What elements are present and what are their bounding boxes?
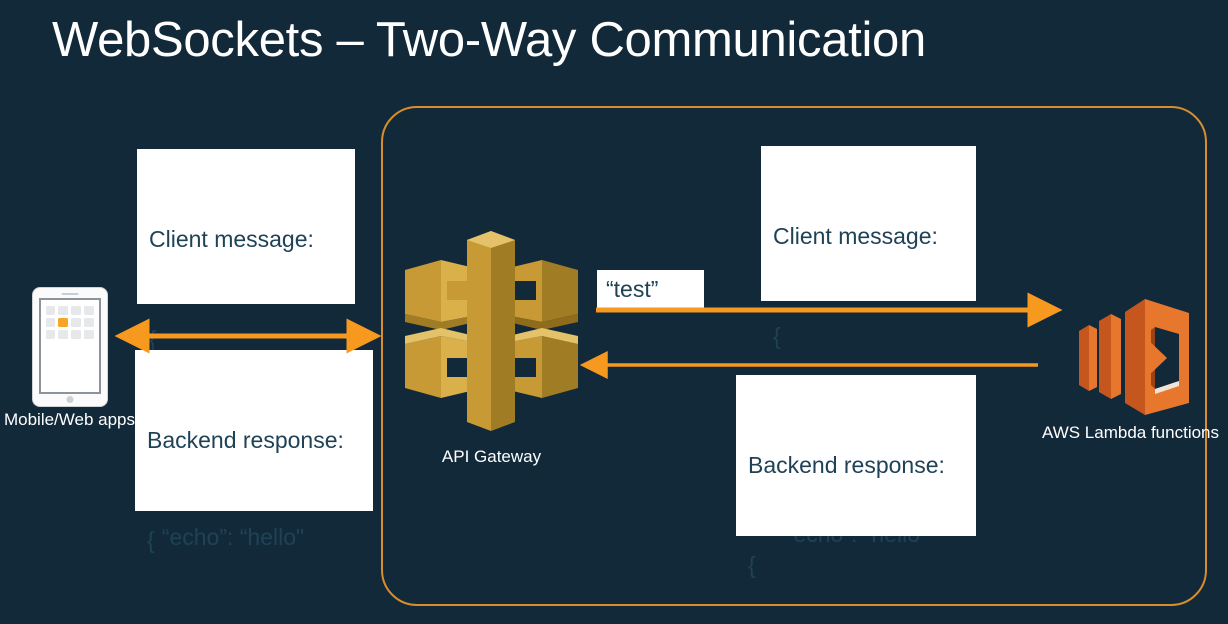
callout-heading: Backend response: bbox=[147, 424, 361, 457]
app-cell bbox=[58, 330, 68, 339]
tablet-home-button-icon bbox=[66, 396, 73, 403]
app-cell bbox=[84, 306, 94, 315]
arrow-lambda-gateway bbox=[594, 352, 1038, 378]
callout-heading: Client message: bbox=[149, 223, 343, 256]
aws-api-gateway-icon bbox=[399, 226, 584, 436]
callout-heading: Client message: bbox=[773, 220, 964, 253]
callout-json-open: { bbox=[147, 524, 361, 557]
callout-backend-response-left: Backend response: { “message”: “You said… bbox=[135, 350, 373, 511]
arrow-gateway-lambda bbox=[594, 297, 1042, 323]
callout-json-open: { bbox=[773, 320, 964, 353]
aws-lambda-icon bbox=[1067, 293, 1195, 417]
tablet-speaker-icon bbox=[61, 293, 78, 295]
app-cell bbox=[58, 306, 68, 315]
app-cell-active bbox=[58, 318, 68, 327]
callout-json-open: { bbox=[748, 549, 964, 582]
app-cell bbox=[71, 306, 81, 315]
callout-backend-response-right: Backend response: { “message”: “You said… bbox=[736, 375, 976, 536]
page-title: WebSockets – Two-Way Communication bbox=[52, 12, 926, 68]
app-icon-grid bbox=[46, 306, 94, 339]
endpoint-api-gateway: API Gateway bbox=[399, 226, 584, 467]
tablet-screen bbox=[39, 298, 101, 394]
app-cell bbox=[84, 318, 94, 327]
endpoint-aws-lambda: AWS Lambda functions bbox=[1033, 293, 1228, 443]
endpoint-label-mobile: Mobile/Web apps bbox=[0, 410, 139, 430]
endpoint-mobile-web-apps: Mobile/Web apps bbox=[0, 288, 139, 430]
slide-canvas: WebSockets – Two-Way Communication Clien… bbox=[0, 0, 1228, 624]
tablet-device-icon bbox=[33, 288, 107, 406]
callout-client-message-left: Client message: { “action”: “test”, “ech… bbox=[137, 149, 355, 304]
app-cell bbox=[46, 306, 56, 315]
callout-heading: Backend response: bbox=[748, 449, 964, 482]
app-cell bbox=[46, 318, 56, 327]
callout-client-message-right: Client message: { “action”: “test”, “ech… bbox=[761, 146, 976, 301]
app-cell bbox=[71, 318, 81, 327]
app-cell bbox=[71, 330, 81, 339]
app-cell bbox=[84, 330, 94, 339]
arrow-client-gateway bbox=[133, 320, 363, 352]
endpoint-label-lambda: AWS Lambda functions bbox=[1033, 423, 1228, 443]
endpoint-label-api-gateway: API Gateway bbox=[399, 447, 584, 467]
app-cell bbox=[46, 330, 56, 339]
